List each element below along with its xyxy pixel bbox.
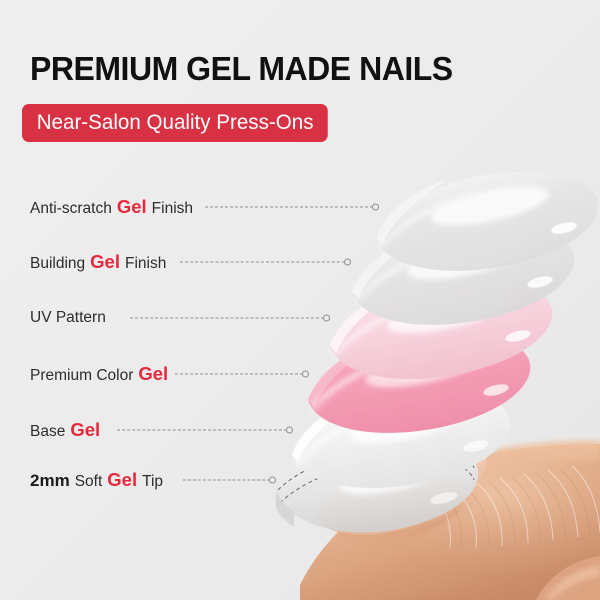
layer-label-2mm-soft-gel-tip: 2mmSoftGelTip	[30, 469, 163, 491]
layer-label-base-gel-part-1: Gel	[70, 419, 100, 441]
leader-endpoint-dot-building-gel-finish	[344, 258, 351, 265]
layer-label-anti-scratch-gel-finish-part-0: Anti-scratch	[30, 200, 112, 218]
layer-label-anti-scratch-gel-finish-part-2: Finish	[152, 200, 193, 218]
layer-label-premium-color-gel-part-1: Gel	[138, 363, 168, 385]
leader-dash-anti-scratch-gel-finish	[205, 207, 378, 208]
leader-dash-building-gel-finish	[180, 262, 350, 263]
layer-label-premium-color-gel-part-0: Premium Color	[30, 367, 133, 385]
subtitle-badge: Near-Salon Quality Press-Ons	[22, 104, 328, 142]
leader-line-building-gel-finish	[180, 262, 350, 263]
leader-line-2mm-soft-gel-tip	[183, 480, 275, 481]
layer-label-2mm-soft-gel-tip-part-2: Gel	[107, 469, 137, 491]
layer-label-uv-pattern: UV Pattern	[30, 309, 106, 327]
layer-label-building-gel-finish-part-0: Building	[30, 255, 85, 273]
layer-label-2mm-soft-gel-tip-part-1: Soft	[75, 473, 103, 491]
leader-line-anti-scratch-gel-finish	[205, 207, 378, 208]
leader-line-base-gel	[117, 430, 292, 431]
infographic-canvas: PREMIUM GEL MADE NAILS Near-Salon Qualit…	[0, 0, 600, 600]
layer-label-premium-color-gel: Premium ColorGel	[30, 363, 168, 385]
leader-endpoint-dot-anti-scratch-gel-finish	[372, 203, 379, 210]
leader-dash-premium-color-gel	[175, 374, 308, 375]
leader-dash-base-gel	[117, 430, 292, 431]
layer-label-2mm-soft-gel-tip-part-0: 2mm	[30, 471, 70, 491]
leader-endpoint-dot-2mm-soft-gel-tip	[269, 476, 276, 483]
leader-endpoint-dot-base-gel	[286, 426, 293, 433]
layer-label-uv-pattern-part-0: UV Pattern	[30, 309, 106, 327]
layer-label-building-gel-finish-part-1: Gel	[90, 251, 120, 273]
layer-label-base-gel: BaseGel	[30, 419, 100, 441]
layer-label-base-gel-part-0: Base	[30, 423, 65, 441]
leader-dash-uv-pattern	[130, 318, 329, 319]
layer-label-anti-scratch-gel-finish: Anti-scratchGelFinish	[30, 196, 193, 218]
gel-nail-layers-illustration	[0, 0, 600, 600]
leader-line-uv-pattern	[130, 318, 329, 319]
layer-label-building-gel-finish: BuildingGelFinish	[30, 251, 166, 273]
leader-dash-2mm-soft-gel-tip	[183, 480, 275, 481]
page-title: PREMIUM GEL MADE NAILS	[30, 50, 453, 88]
layer-label-building-gel-finish-part-2: Finish	[125, 255, 166, 273]
leader-endpoint-dot-uv-pattern	[323, 314, 330, 321]
layer-label-anti-scratch-gel-finish-part-1: Gel	[117, 196, 147, 218]
layer-label-2mm-soft-gel-tip-part-3: Tip	[142, 473, 163, 491]
leader-line-premium-color-gel	[175, 374, 308, 375]
leader-endpoint-dot-premium-color-gel	[302, 370, 309, 377]
